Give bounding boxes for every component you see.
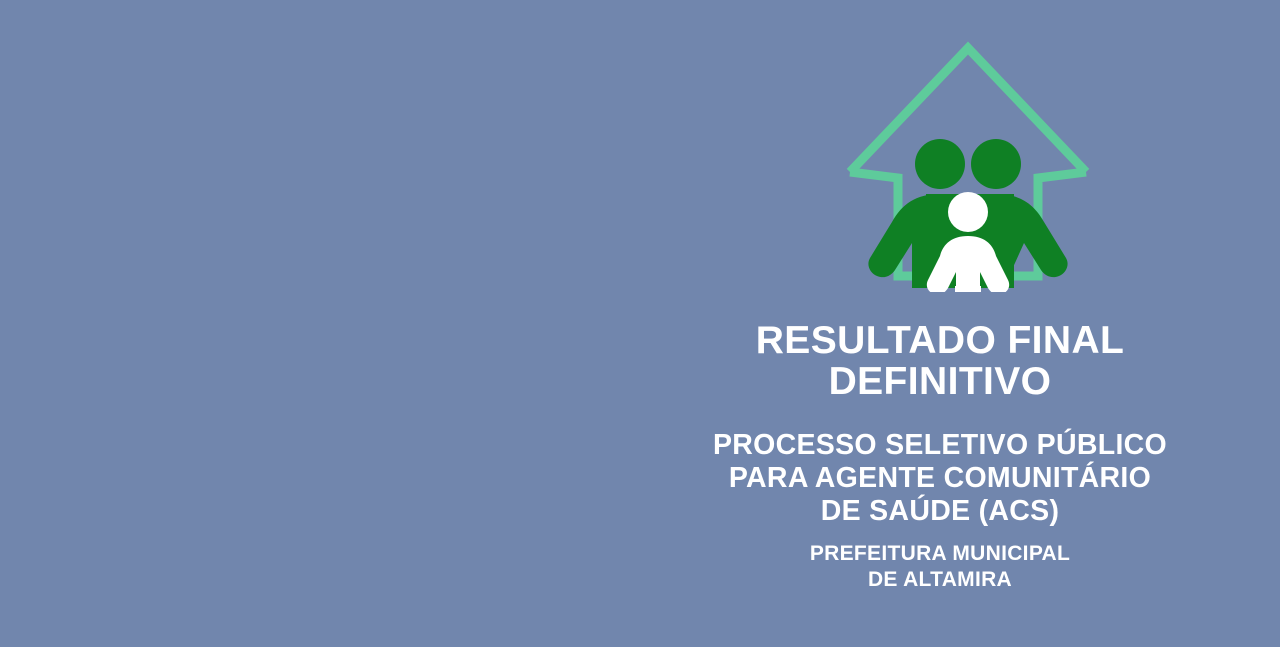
- poster-canvas: RESULTADO FINAL DEFINITIVO PROCESSO SELE…: [0, 0, 1280, 647]
- page-title: RESULTADO FINAL DEFINITIVO: [640, 320, 1240, 403]
- organization-line-1: PREFEITURA MUNICIPAL: [640, 541, 1240, 567]
- page-title-line-1: RESULTADO FINAL: [640, 320, 1240, 361]
- adult-right-head-icon: [971, 139, 1021, 189]
- family-in-house-icon: [830, 36, 1110, 292]
- page-subtitle-line-1: PROCESSO SELETIVO PÚBLICO: [640, 429, 1240, 462]
- organization-line-2: DE ALTAMIRA: [640, 567, 1240, 593]
- organization-name: PREFEITURA MUNICIPAL DE ALTAMIRA: [640, 541, 1240, 594]
- adult-left-head-icon: [915, 139, 965, 189]
- child-right-leg-icon: [971, 286, 981, 292]
- text-column: RESULTADO FINAL DEFINITIVO PROCESSO SELE…: [640, 320, 1240, 593]
- child-head-icon: [948, 192, 988, 232]
- page-subtitle-line-2: PARA AGENTE COMUNITÁRIO: [640, 462, 1240, 495]
- page-title-line-2: DEFINITIVO: [640, 361, 1240, 402]
- logo-block: [830, 36, 1110, 292]
- page-subtitle-line-3: DE SAÚDE (ACS): [640, 495, 1240, 528]
- child-left-leg-icon: [955, 286, 965, 292]
- page-subtitle: PROCESSO SELETIVO PÚBLICO PARA AGENTE CO…: [640, 429, 1240, 529]
